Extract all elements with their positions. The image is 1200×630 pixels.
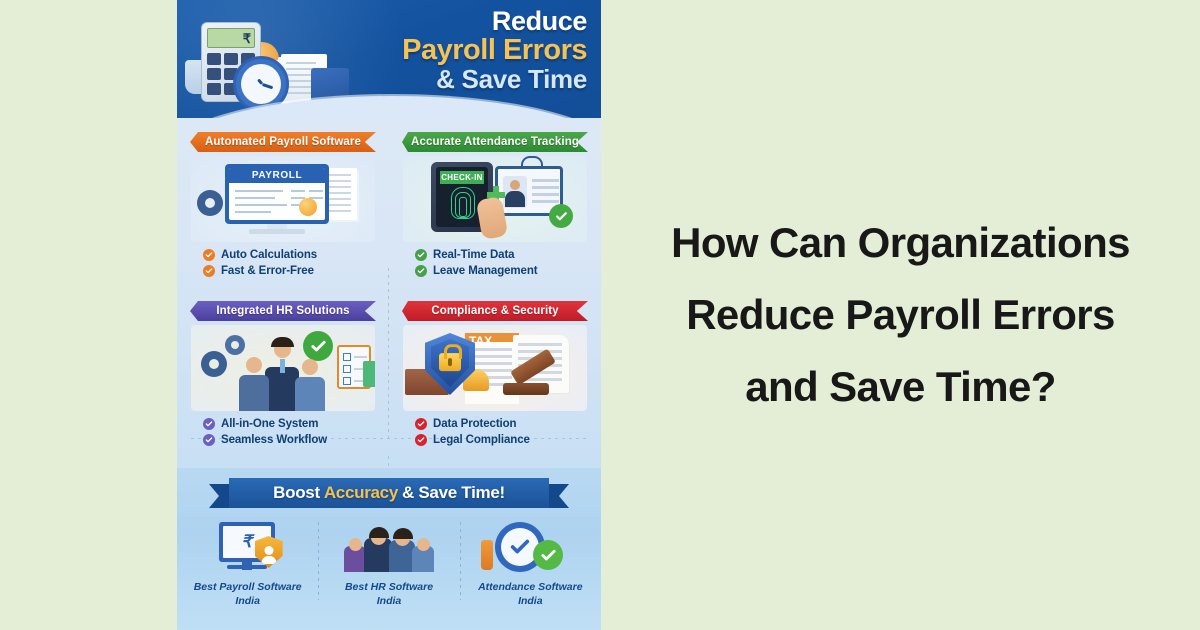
footer-item-label: Best Payroll Software India: [177, 580, 318, 608]
bullet-list-3: All-in-One System Seamless Workflow: [203, 418, 381, 446]
gear-icon: [197, 190, 223, 216]
footer-item-line1: Best Payroll Software: [177, 580, 318, 594]
user-shield-icon: [255, 536, 283, 568]
avatar: [503, 176, 527, 208]
bullet-label: Auto Calculations: [221, 249, 317, 261]
footer-item-row: ₹ Best Payroll Software India: [177, 518, 601, 608]
poster-title-line1: Reduce: [311, 8, 587, 35]
bullet-item: Legal Compliance: [415, 434, 593, 446]
footer-item-hr: Best HR Software India: [318, 518, 459, 608]
boost-accuracy-ribbon: Boost Accuracy & Save Time!: [209, 478, 569, 508]
bullet-label: Data Protection: [433, 418, 517, 430]
headline-block: How Can Organizations Reduce Payroll Err…: [601, 0, 1200, 630]
clock-check-glyph: [508, 536, 532, 558]
bullet-item: All-in-One System: [203, 418, 381, 430]
bullet-label: Seamless Workflow: [221, 434, 327, 446]
gear-icon: [201, 351, 227, 377]
footer-item-attendance: Attendance Software India: [460, 518, 601, 608]
check-circle-icon: [415, 418, 427, 430]
quadrant-automated-payroll-software: Automated Payroll Software PAYROLL: [177, 126, 389, 281]
footer-item-line2: India: [318, 594, 459, 608]
person-left: [239, 375, 269, 411]
team-illustration: [191, 325, 375, 411]
person-head: [349, 538, 362, 551]
quadrant-row-1: Automated Payroll Software PAYROLL: [177, 126, 601, 281]
poster-title: Reduce Payroll Errors & Save Time: [311, 8, 587, 92]
bullet-label: Legal Compliance: [433, 434, 530, 446]
ribbon-body: Boost Accuracy & Save Time!: [229, 478, 549, 508]
check-circle-icon: [203, 249, 215, 261]
quadrant-integrated-hr-solutions: Integrated HR Solutions: [177, 295, 389, 450]
quadrant-accurate-attendance-tracking: Accurate Attendance Tracking CHECK-IN: [389, 126, 601, 281]
bullet-item: Leave Management: [415, 265, 593, 277]
bullet-list-1: Auto Calculations Fast & Error-Free: [203, 249, 381, 277]
clock-face: [241, 64, 281, 104]
bullet-label: All-in-One System: [221, 418, 318, 430]
calculator-display: ₹: [207, 28, 255, 48]
illustration-attendance-kiosk: CHECK-IN: [403, 156, 587, 242]
check-circle-icon: [303, 331, 333, 361]
coin-badge-icon: [299, 198, 317, 216]
monitor-base: [227, 565, 267, 569]
gavel-block-icon: [503, 383, 549, 395]
infographic-poster: ₹ Reduce Payroll Errors & Save Time: [177, 0, 601, 630]
bullet-item: Real-Time Data: [415, 249, 593, 261]
headline-line-2: Reduce Payroll Errors: [686, 279, 1115, 351]
poster-title-line3: & Save Time: [311, 66, 587, 92]
person-right: [295, 377, 325, 411]
quadrant-title-3: Integrated HR Solutions: [190, 301, 376, 321]
bullet-item: Fast & Error-Free: [203, 265, 381, 277]
bullet-item: Seamless Workflow: [203, 434, 381, 446]
quadrant-title-4: Compliance & Security: [402, 301, 588, 321]
ribbon-text-pre: Boost: [273, 483, 320, 503]
clock-hour-hand: [257, 78, 263, 84]
page-root: ₹ Reduce Payroll Errors & Save Time: [0, 0, 1200, 630]
footer-item-label: Best HR Software India: [318, 580, 459, 608]
person-head: [417, 538, 430, 551]
quadrant-grid: Automated Payroll Software PAYROLL: [177, 126, 601, 450]
footer-item-line2: India: [460, 594, 601, 608]
illustration-compliance: TAX: [403, 325, 587, 411]
check-circle-icon: [203, 265, 215, 277]
headline-line-3: and Save Time?: [745, 351, 1056, 423]
check-circle-icon: [533, 540, 563, 570]
clock-minute-hand: [262, 83, 273, 89]
bullet-list-4: Data Protection Legal Compliance: [415, 418, 593, 446]
ribbon-text-post: & Save Time!: [402, 483, 505, 503]
person-head: [302, 359, 318, 375]
team-people-icon: [334, 518, 444, 574]
payroll-screen-label: PAYROLL: [229, 168, 325, 183]
clock-check-icon: [475, 518, 585, 574]
bullet-item: Auto Calculations: [203, 249, 381, 261]
check-circle-icon: [203, 434, 215, 446]
illustration-hr-team: [191, 325, 375, 411]
footer-item-line1: Best HR Software: [318, 580, 459, 594]
laptop-icon: PAYROLL: [225, 164, 329, 224]
check-circle-icon: [415, 249, 427, 261]
bullet-list-2: Real-Time Data Leave Management: [415, 249, 593, 277]
monitor-rupee-shield-icon: ₹: [193, 518, 303, 574]
bullet-label: Real-Time Data: [433, 249, 514, 261]
person-head: [246, 357, 262, 373]
bullet-label: Fast & Error-Free: [221, 265, 314, 277]
checkin-screen-label: CHECK-IN: [440, 171, 484, 184]
person-center: [265, 367, 299, 411]
footer-item-line1: Attendance Software: [460, 580, 601, 594]
fingerprint-icon: [448, 187, 476, 219]
check-circle-icon: [415, 434, 427, 446]
quadrant-compliance-security: Compliance & Security TAX: [389, 295, 601, 450]
footer-item-line2: India: [177, 594, 318, 608]
quadrant-title-1: Automated Payroll Software: [190, 132, 376, 152]
lock-icon: [439, 353, 461, 371]
check-circle-icon: [549, 204, 573, 228]
bottle-icon: [481, 540, 493, 570]
bullet-label: Leave Management: [433, 265, 538, 277]
money-icon: [363, 361, 375, 387]
check-circle-icon: [415, 265, 427, 277]
poster-title-line2: Payroll Errors: [311, 36, 587, 65]
check-circle-icon: [203, 418, 215, 430]
quadrant-row-2: Integrated HR Solutions: [177, 295, 601, 450]
footer-item-payroll: ₹ Best Payroll Software India: [177, 518, 318, 608]
ribbon-text-highlight: Accuracy: [324, 483, 398, 503]
illustration-payroll-laptop: PAYROLL: [191, 156, 375, 242]
quadrant-title-2: Accurate Attendance Tracking: [402, 132, 588, 152]
poster-footer: Boost Accuracy & Save Time! ₹ Best: [177, 468, 601, 630]
headline-line-1: How Can Organizations: [671, 207, 1130, 279]
bullet-item: Data Protection: [415, 418, 593, 430]
footer-item-label: Attendance Software India: [460, 580, 601, 608]
poster-header-band: ₹ Reduce Payroll Errors & Save Time: [177, 0, 601, 118]
gear-small-icon: [225, 335, 245, 355]
